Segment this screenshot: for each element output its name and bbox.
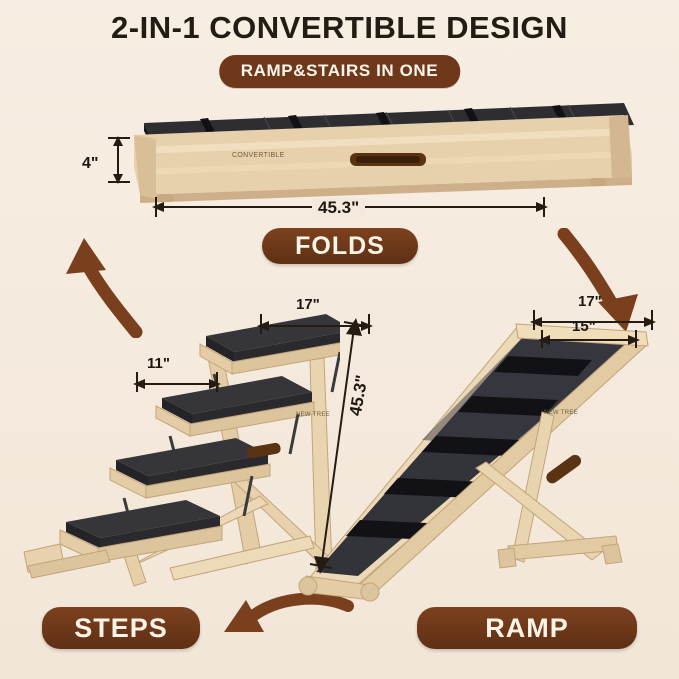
product-infographic: 2-IN-1 CONVERTIBLE DESIGN RAMP&STAIRS IN… <box>0 0 679 679</box>
folded-height-label: 4" <box>82 155 98 173</box>
steps-label-pill: STEPS <box>42 607 200 649</box>
folded-length-label: 45.3" <box>312 198 365 218</box>
ramp-label-pill: RAMP <box>417 607 637 649</box>
subtitle-pill: RAMP&STAIRS IN ONE <box>219 55 461 88</box>
folded-brand-text: CONVERTIBLE <box>232 152 285 159</box>
ramp-brand-text: NEW TREE <box>544 410 578 416</box>
ramp-length-dimension <box>300 312 370 592</box>
page-title: 2-IN-1 CONVERTIBLE DESIGN <box>0 10 679 46</box>
folds-label-pill: FOLDS <box>262 228 418 264</box>
ramp-width-label: 17" <box>578 293 602 310</box>
stairs-step-depth-dimension <box>131 360 223 394</box>
stairs-step-depth-label: 11" <box>147 355 170 372</box>
ramp-inner-width-label: 15" <box>572 318 596 335</box>
